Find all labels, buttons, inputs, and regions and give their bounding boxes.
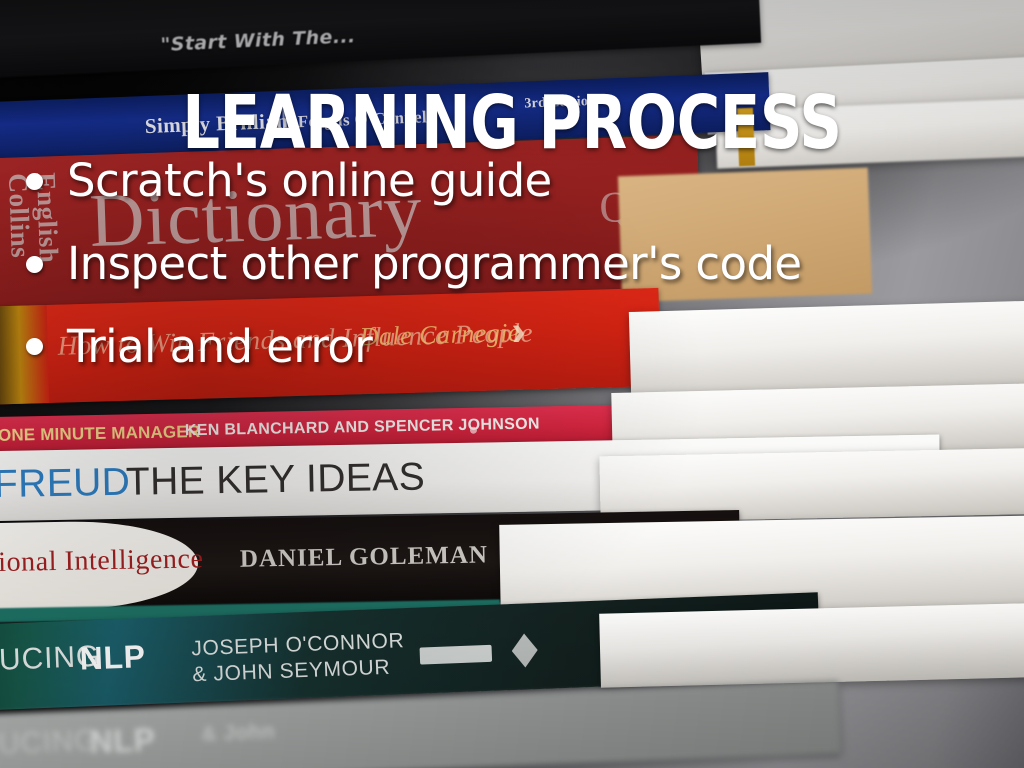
bullet-dot-icon — [26, 338, 43, 355]
page-title: LEARNING PROCESS — [102, 86, 921, 160]
slide-content: LEARNING PROCESS Scratch's online guide … — [0, 0, 1024, 768]
bullet-dot-icon — [26, 256, 43, 273]
list-item: Inspect other programmer's code — [22, 241, 902, 288]
bullet-text: Trial and error — [67, 324, 372, 371]
list-item: Trial and error — [22, 324, 902, 371]
bullet-list: Scratch's online guide Inspect other pro… — [22, 158, 902, 406]
list-item: Scratch's online guide — [22, 158, 902, 205]
bullet-dot-icon — [26, 173, 43, 190]
slide: "Start With The... Simply Brilliant Ferg… — [0, 0, 1024, 768]
bullet-text: Inspect other programmer's code — [67, 241, 802, 288]
bullet-text: Scratch's online guide — [67, 158, 552, 205]
